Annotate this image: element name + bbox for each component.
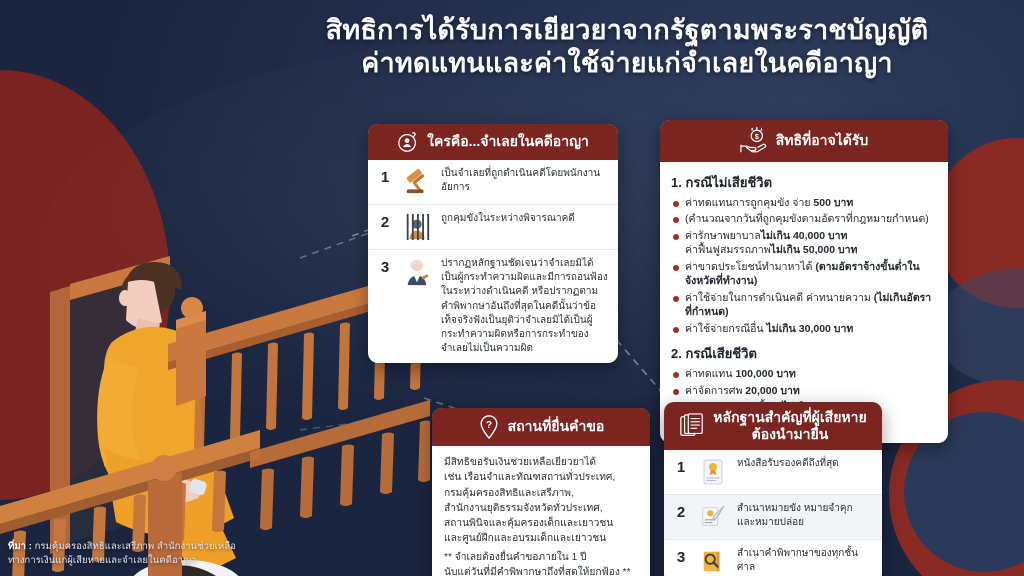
rights-bullet: ค่าใช้จ่ายในการดำเนินคดี ค่าทนายความ (ไม… (671, 291, 937, 320)
item-number: 2 (673, 502, 689, 521)
item-number: 3 (673, 547, 689, 566)
item-text: ปรากฏหลักฐานชัดเจนว่าจำเลยมิได้เป็นผู้กร… (441, 257, 608, 356)
place-card: ? สถานที่ยื่นคำขอ มีสิทธิขอรับเงินช่วยเห… (432, 408, 650, 576)
footer-source: ที่มา : กรมคุ้มครองสิทธิและเสรีภาพ สำนัก… (8, 540, 338, 568)
evidence-card-rows: 1 หนังสือรับรองคดีถึงที่สุด 2 (664, 450, 882, 576)
defendant-card-title: ใครคือ...จำเลยในคดีอาญา (427, 133, 589, 150)
place-card-title: สถานที่ยื่นคำขอ (508, 418, 605, 435)
evidence-card: หลักฐานสำคัญที่ผู้เสียหาย ต้องนำมายื่น 1… (664, 402, 882, 576)
location-question-icon: ? (478, 415, 500, 439)
rights-section-heading-2: 2. กรณีเสียชีวิต (671, 343, 937, 364)
rights-bullet: (คำนวณจากวันที่ถูกคุมขังตามอัตราที่กฎหมา… (671, 212, 937, 226)
rights-bullet: ค่าทดแทนการถูกคุมขัง จ่าย 500 บาท (671, 196, 937, 210)
list-item[interactable]: 1 เป็นจำเลยที่ถูกดำเนินคดีโดยพนักงานอัยก… (368, 160, 618, 205)
title-line-1: สิทธิการได้รับการเยียวยาจากรัฐตามพระราชบ… (326, 15, 929, 45)
rights-bullets-1: ค่าทดแทนการถูกคุมขัง จ่าย 500 บาท (คำนวณ… (671, 196, 937, 336)
item-text: สำเนาหมายขัง หมายจำคุกและหมายปล่อย (737, 502, 872, 530)
rights-card-title: สิทธิที่อาจได้รับ (776, 132, 869, 149)
item-number: 3 (377, 257, 393, 276)
page-title: สิทธิการได้รับการเยียวยาจากรัฐตามพระราชบ… (232, 14, 1022, 80)
documents-icon (679, 413, 705, 439)
rights-card: $ สิทธิที่อาจได้รับ 1. กรณีไม่เสียชีวิต … (660, 120, 948, 443)
svg-text:?: ? (486, 420, 492, 431)
item-text: เป็นจำเลยที่ถูกดำเนินคดีโดยพนักงานอัยการ (441, 167, 608, 195)
gavel-icon (402, 167, 432, 197)
list-item[interactable]: 3 สำเนาคำพิพากษาของทุกชั้นศาล (664, 540, 882, 576)
defendant-card-rows: 1 เป็นจำเลยที่ถูกดำเนินคดีโดยพนักงานอัยก… (368, 160, 618, 363)
evidence-title-line-2: ต้องนำมายื่น (752, 426, 829, 442)
title-line-2: ค่าทดแทนและค่าใช้จ่ายแก่จำเลยในคดีอาญา (232, 47, 1022, 80)
place-card-header: ? สถานที่ยื่นคำขอ (432, 408, 650, 446)
place-card-note: ** จำเลยต้องยื่นคำขอภายใน 1 ปีนับแต่วันท… (444, 550, 638, 576)
list-item[interactable]: 1 หนังสือรับรองคดีถึงที่สุด (664, 450, 882, 495)
evidence-title-line-1: หลักฐานสำคัญที่ผู้เสียหาย (713, 409, 866, 425)
person-question-icon (397, 131, 419, 153)
item-text: สำเนาคำพิพากษาของทุกชั้นศาล (737, 547, 872, 575)
defendant-card-header: ใครคือ...จำเลยในคดีอาญา (368, 124, 618, 160)
evidence-card-title: หลักฐานสำคัญที่ผู้เสียหาย ต้องนำมายื่น (713, 409, 866, 443)
list-item[interactable]: 3 ปรากฏหลักฐานชัดเจนว่าจำเลยมิได้เป็นผู้… (368, 250, 618, 363)
hand-money-icon: $ (740, 127, 768, 155)
rights-card-header: $ สิทธิที่อาจได้รับ (660, 120, 948, 162)
item-number: 1 (673, 457, 689, 476)
illustration-prisoner-scene (0, 96, 430, 576)
place-card-text: มีสิทธิขอรับเงินช่วยเหลือเยียวยาได้เช่น … (444, 455, 638, 547)
warrant-pen-icon (698, 502, 728, 532)
footer-text: กรมคุ้มครองสิทธิและเสรีภาพ สำนักงานช่วยเ… (8, 541, 236, 566)
rights-bullet: ค่าขาดประโยชน์ทำมาหาได้ (ตามอัตราจ้างขั้… (671, 260, 937, 289)
item-text: หนังสือรับรองคดีถึงที่สุด (737, 457, 872, 471)
item-text: ถูกคุมขังในระหว่างพิจารณาคดี (441, 212, 608, 226)
list-item[interactable]: 2 สำเนาหมายขัง หมายจำคุกและหมายปล่อย (664, 495, 882, 540)
magnifier-document-icon (698, 547, 728, 576)
certificate-icon (698, 457, 728, 487)
rights-bullet: ค่าใช้จ่ายกรณีอื่น ไม่เกิน 30,000 บาท (671, 322, 937, 336)
list-item[interactable]: 2 ถูกคุมขังในระหว่างพิจาร (368, 205, 618, 250)
judge-icon (402, 257, 432, 287)
svg-text:$: $ (754, 132, 759, 141)
place-card-body: มีสิทธิขอรับเงินช่วยเหลือเยียวยาได้เช่น … (432, 446, 650, 576)
rights-bullet: ค่าจัดการศพ 20,000 บาท (671, 384, 937, 398)
infographic-canvas: สิทธิการได้รับการเยียวยาจากรัฐตามพระราชบ… (0, 0, 1024, 576)
item-number: 2 (377, 212, 393, 231)
rights-section-heading-1: 1. กรณีไม่เสียชีวิต (671, 172, 937, 193)
footer-label: ที่มา : (8, 541, 32, 552)
prison-bars-icon (402, 212, 432, 242)
rights-bullet: ค่ารักษาพยาบาลไม่เกิน 40,000 บาทค่าฟื้นฟ… (671, 229, 937, 258)
defendant-card: ใครคือ...จำเลยในคดีอาญา 1 เป็นจำเลยที่ถู… (368, 124, 618, 363)
evidence-card-header: หลักฐานสำคัญที่ผู้เสียหาย ต้องนำมายื่น (664, 402, 882, 450)
rights-bullet: ค่าทดแทน 100,000 บาท (671, 367, 937, 381)
item-number: 1 (377, 167, 393, 186)
